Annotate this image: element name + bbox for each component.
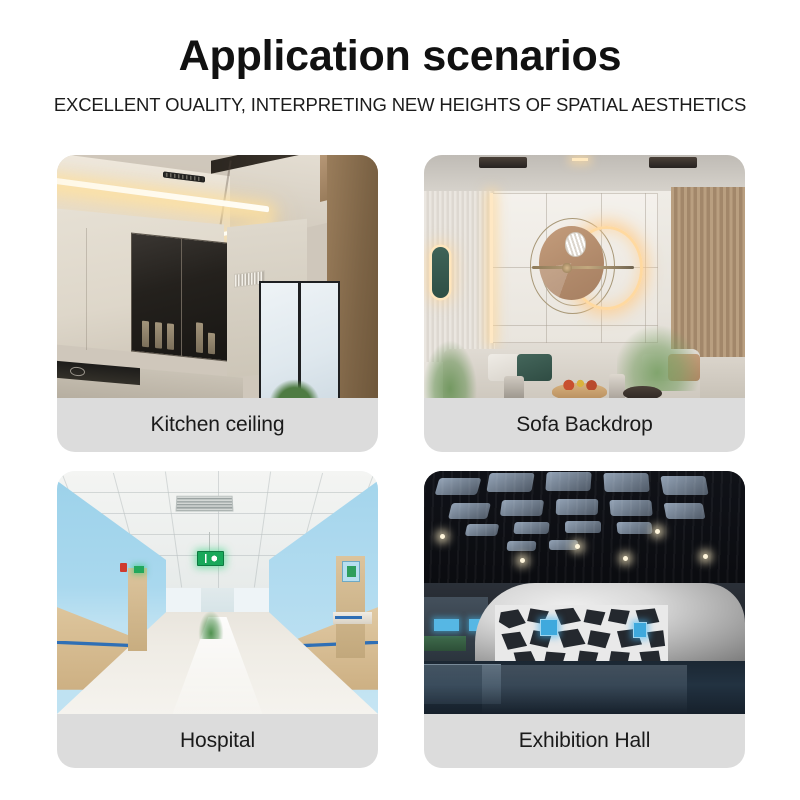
- kitchen-outdoor-plant: [269, 379, 320, 398]
- scenario-caption-kitchen-ceiling: Kitchen ceiling: [57, 398, 378, 452]
- kitchen-glass-cabinet: [131, 232, 236, 362]
- scenario-caption-exhibition-hall: Exhibition Hall: [424, 714, 745, 768]
- page-header: Application scenarios EXCELLENT OUALITY,…: [0, 0, 800, 116]
- sofa-backdrop-photo: [424, 155, 745, 398]
- exhibition-wall-screen-1: [434, 619, 460, 631]
- exhibition-lattice-screen-2: [633, 622, 648, 639]
- hospital-right-shelf: [333, 612, 372, 624]
- clock-hand-icon: [532, 266, 634, 269]
- sofa-ceiling-bar-right: [649, 157, 697, 167]
- scenario-caption-hospital: Hospital: [57, 714, 378, 768]
- page-subtitle: EXCELLENT OUALITY, INTERPRETING NEW HEIG…: [0, 79, 800, 116]
- hospital-photo: [57, 471, 378, 714]
- exhibition-floor-glow: [482, 665, 687, 714]
- sofa-vase-left: [504, 376, 523, 398]
- sofa-panel-edge-glow-icon: [490, 193, 493, 344]
- exhibition-lattice-screen: [540, 619, 558, 636]
- hospital-fire-sign-icon: [120, 563, 127, 572]
- sofa-wall-clock: [530, 218, 646, 320]
- exhibition-green-display: [424, 636, 466, 651]
- hospital-green-light-icon: [134, 566, 144, 573]
- kitchen-ceiling-photo: [57, 155, 378, 398]
- exhibition-glass-railing: [424, 664, 501, 704]
- scenario-card-kitchen-ceiling[interactable]: Kitchen ceiling: [57, 155, 378, 452]
- hospital-ceiling-vent-icon: [175, 496, 232, 511]
- scenario-card-hospital[interactable]: Hospital: [57, 471, 378, 768]
- scenario-card-exhibition-hall[interactable]: Exhibition Hall: [424, 471, 745, 768]
- clock-textured-circle: [565, 232, 587, 256]
- scenario-caption-sofa-backdrop: Sofa Backdrop: [424, 398, 745, 452]
- sofa-plant-left: [424, 337, 479, 398]
- hospital-wall-sign: [342, 561, 360, 582]
- sofa-dark-bowl: [623, 386, 662, 398]
- exhibition-hall-photo: [424, 471, 745, 714]
- exhibition-ceiling-ribs: [424, 471, 745, 593]
- sofa-fruit-bowl: [552, 383, 607, 398]
- sofa-ceiling-bar-left: [479, 157, 527, 167]
- clock-hub-icon: [562, 263, 571, 273]
- kitchen-cabinet-seam: [86, 228, 87, 350]
- hospital-exit-sign-icon: [197, 551, 225, 566]
- scenario-card-grid: Kitchen ceiling: [57, 155, 745, 768]
- scenario-card-sofa-backdrop[interactable]: Sofa Backdrop: [424, 155, 745, 452]
- hospital-corridor-plant: [198, 610, 224, 639]
- hospital-door-left: [128, 568, 147, 651]
- sofa-ceiling-glow-icon: [572, 158, 588, 161]
- sofa-pill-wall-light-icon: [432, 247, 449, 298]
- page-title: Application scenarios: [0, 0, 800, 79]
- sofa-plant-right: [617, 318, 707, 391]
- application-scenarios-page: Application scenarios EXCELLENT OUALITY,…: [0, 0, 800, 800]
